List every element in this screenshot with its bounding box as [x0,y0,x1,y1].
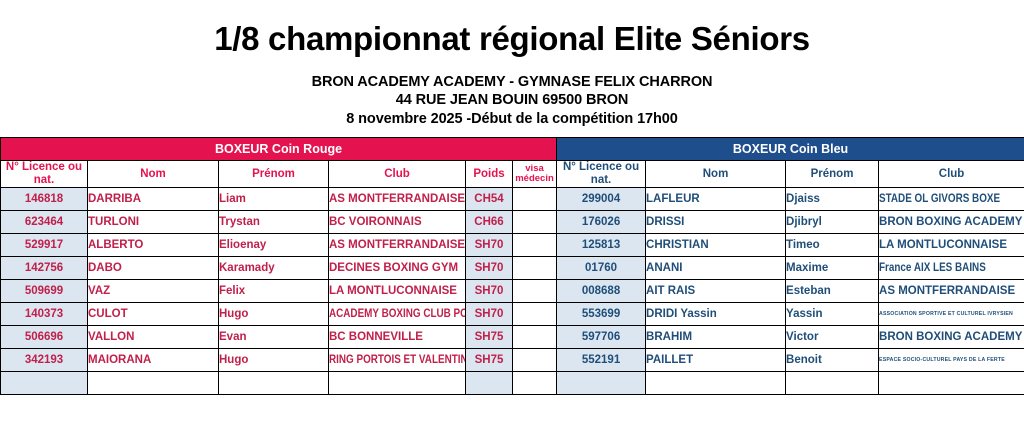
red-licence-cell: 623464 [1,211,88,234]
licence-header-line2: nat. [34,174,54,186]
column-header-blue-prenom: Prénom [786,161,879,188]
red-poids-cell: SH70 [466,303,513,326]
red-club-cell: DECINES BOXING GYM [329,257,466,280]
blue-club-cell: France AIX LES BAINS [879,257,1024,280]
document-page: 1/8 championnat régional Elite Séniors B… [0,22,1024,441]
red-visa-cell [513,349,557,372]
red-licence-cell: 142756 [1,257,88,280]
blue-licence-cell: 176026 [557,211,646,234]
blue-club-cell-text: ASSOCIATION SPORTIVE ET CULTUREL IVRYSIE… [879,311,1024,317]
empty-cell [1,372,88,395]
table-row: 140373CULOTHugoACADEMY BOXING CLUB POISY… [1,303,1024,326]
visa-header-line1: visa [525,163,544,174]
red-nom-cell: CULOT [88,303,219,326]
banner-blue-corner: BOXEUR Coin Bleu [557,138,1024,161]
red-nom-cell: VAZ [88,280,219,303]
column-header-blue-nom: Nom [646,161,786,188]
empty-cell [646,372,786,395]
blue-nom-cell: DRIDI Yassin [646,303,786,326]
licence-header-line1: N° Licence ou [6,161,82,173]
red-visa-cell [513,211,557,234]
red-licence-cell: 529917 [1,234,88,257]
column-header-red-nom: Nom [88,161,219,188]
blue-nom-cell: CHRISTIAN [646,234,786,257]
red-visa-cell [513,280,557,303]
red-nom-cell: VALLON [88,326,219,349]
blue-licence-cell: 597706 [557,326,646,349]
column-header-red-prenom: Prénom [219,161,329,188]
red-prenom-cell: Liam [219,188,329,211]
column-header-red-club: Club [329,161,466,188]
blue-prenom-cell: Esteban [786,280,879,303]
table-row: 506696VALLONEvanBC BONNEVILLESH75597706B… [1,326,1024,349]
blue-nom-cell: DRISSI [646,211,786,234]
red-nom-cell: MAIORANA [88,349,219,372]
address-line: 44 RUE JEAN BOUIN 69500 BRON [0,91,1024,110]
blue-club-cell: LA MONTLUCONNAISE [879,234,1024,257]
blue-prenom-cell: Maxime [786,257,879,280]
red-prenom-cell: Karamady [219,257,329,280]
blue-club-cell: ESPACE SOCIO-CULTUREL PAYS DE LA FERTE [879,349,1024,372]
datetime-line: 8 novembre 2025 -Début de la compétition… [0,110,1024,129]
blue-club-cell: BRON BOXING ACADEMY [879,326,1024,349]
red-visa-cell [513,188,557,211]
blue-licence-cell: 299004 [557,188,646,211]
blue-prenom-cell: Timeo [786,234,879,257]
blue-club-cell: AS MONTFERRANDAISE [879,280,1024,303]
page-title: 1/8 championnat régional Elite Séniors [0,22,1024,57]
red-visa-cell [513,234,557,257]
empty-cell [88,372,219,395]
column-header-blue-club: Club [879,161,1024,188]
red-prenom-cell: Trystan [219,211,329,234]
red-visa-cell [513,303,557,326]
licence-blue-header-line2: nat. [591,174,611,186]
red-club-cell: RING PORTOIS ET VALENTINOIS [329,349,466,372]
red-licence-cell: 140373 [1,303,88,326]
table-row: 529917ALBERTOElioenayAS MONTFERRANDAISES… [1,234,1024,257]
blue-prenom-cell: Benoit [786,349,879,372]
red-poids-cell: SH70 [466,280,513,303]
blue-licence-cell: 008688 [557,280,646,303]
red-visa-cell [513,257,557,280]
bout-list-table: BOXEUR Coin Rouge BOXEUR Coin Bleu N° Li… [0,137,1024,395]
table-row: 146818DARRIBALiamAS MONTFERRANDAISECH542… [1,188,1024,211]
red-club-cell: AS MONTFERRANDAISE [329,188,466,211]
red-nom-cell: TURLONI [88,211,219,234]
empty-cell [513,372,557,395]
column-header-red-visa: visa médecin [513,161,557,188]
red-club-cell: LA MONTLUCONNAISE [329,280,466,303]
column-header-blue-licence: N° Licence ou nat. [557,161,646,188]
red-poids-cell: SH75 [466,349,513,372]
blue-nom-cell: AIT RAIS [646,280,786,303]
empty-cell [329,372,466,395]
table-row: 142756DABOKaramadyDECINES BOXING GYMSH70… [1,257,1024,280]
blue-club-cell: BRON BOXING ACADEMY [879,211,1024,234]
red-poids-cell: SH70 [466,257,513,280]
venue-line: BRON ACADEMY ACADEMY - GYMNASE FELIX CHA… [0,73,1024,92]
blue-prenom-cell: Djaiss [786,188,879,211]
red-poids-cell: SH70 [466,234,513,257]
red-poids-cell: CH66 [466,211,513,234]
blue-prenom-cell: Yassin [786,303,879,326]
blue-nom-cell: PAILLET [646,349,786,372]
empty-cell [466,372,513,395]
red-club-cell-text: RING PORTOIS ET VALENTINOIS [329,354,446,366]
empty-cell [219,372,329,395]
empty-cell [879,372,1024,395]
blue-licence-cell: 553699 [557,303,646,326]
blue-prenom-cell: Djibryl [786,211,879,234]
red-prenom-cell: Felix [219,280,329,303]
blue-club-cell-text: STADE OL GIVORS BOXE [879,193,1004,205]
blue-club-cell-text: France AIX LES BAINS [879,262,1004,274]
column-header-red-licence: N° Licence ou nat. [1,161,88,188]
empty-cell [557,372,646,395]
blue-nom-cell: LAFLEUR [646,188,786,211]
red-nom-cell: DABO [88,257,219,280]
blue-licence-cell: 01760 [557,257,646,280]
red-club-cell: BC BONNEVILLE [329,326,466,349]
blue-prenom-cell: Victor [786,326,879,349]
red-licence-cell: 506696 [1,326,88,349]
red-licence-cell: 146818 [1,188,88,211]
red-prenom-cell: Elioenay [219,234,329,257]
blue-club-cell: STADE OL GIVORS BOXE [879,188,1024,211]
table-body: 146818DARRIBALiamAS MONTFERRANDAISECH542… [1,188,1024,395]
blue-licence-cell: 552191 [557,349,646,372]
blue-nom-cell: ANANI [646,257,786,280]
red-club-cell: BC VOIRONNAIS [329,211,466,234]
red-licence-cell: 342193 [1,349,88,372]
table-row: 623464TURLONITrystanBC VOIRONNAISCH66176… [1,211,1024,234]
table-row-empty [1,372,1024,395]
blue-nom-cell: BRAHIM [646,326,786,349]
blue-club-cell: ASSOCIATION SPORTIVE ET CULTUREL IVRYSIE… [879,303,1024,326]
red-prenom-cell: Hugo [219,303,329,326]
red-club-cell: AS MONTFERRANDAISE [329,234,466,257]
red-nom-cell: ALBERTO [88,234,219,257]
red-licence-cell: 509699 [1,280,88,303]
banner-row: BOXEUR Coin Rouge BOXEUR Coin Bleu [1,138,1024,161]
red-prenom-cell: Evan [219,326,329,349]
blue-club-cell-text: ESPACE SOCIO-CULTUREL PAYS DE LA FERTE [879,357,1024,363]
red-prenom-cell: Hugo [219,349,329,372]
red-poids-cell: SH75 [466,326,513,349]
banner-red-corner: BOXEUR Coin Rouge [1,138,557,161]
red-nom-cell: DARRIBA [88,188,219,211]
red-club-cell-text: ACADEMY BOXING CLUB POISY [329,308,446,320]
licence-blue-header-line1: N° Licence ou [563,161,639,173]
table-row: 342193MAIORANAHugoRING PORTOIS ET VALENT… [1,349,1024,372]
column-header-row: N° Licence ou nat. Nom Prénom Club Poids… [1,161,1024,188]
red-visa-cell [513,326,557,349]
event-info-block: BRON ACADEMY ACADEMY - GYMNASE FELIX CHA… [0,73,1024,129]
visa-header-line2: médecin [515,173,554,184]
column-header-red-poids: Poids [466,161,513,188]
red-poids-cell: CH54 [466,188,513,211]
red-club-cell: ACADEMY BOXING CLUB POISY [329,303,466,326]
empty-cell [786,372,879,395]
blue-licence-cell: 125813 [557,234,646,257]
table-row: 509699VAZFelixLA MONTLUCONNAISESH7000868… [1,280,1024,303]
